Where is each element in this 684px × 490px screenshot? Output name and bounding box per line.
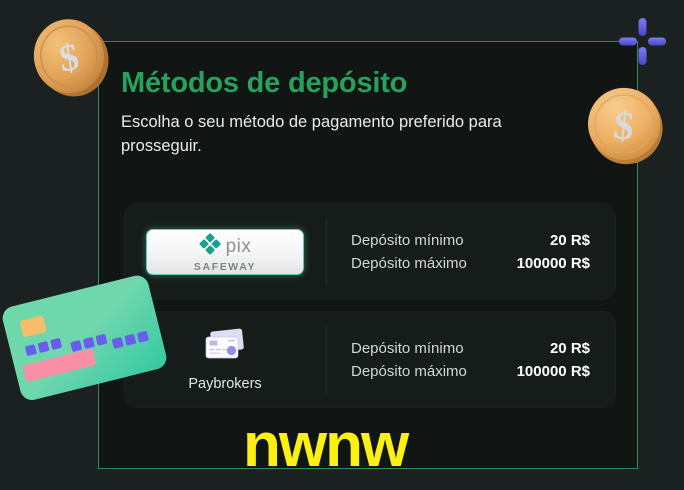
payment-method-row-paybrokers[interactable]: Paybrokers Depósito mínimo 20 R$ Depósit… [124, 311, 616, 408]
max-deposit-label: Depósito máximo [351, 363, 467, 380]
min-deposit-value: 20 R$ [550, 340, 590, 357]
min-deposit-label: Depósito mínimo [351, 232, 464, 249]
max-deposit-label: Depósito máximo [351, 255, 467, 272]
panel-header: Métodos de depósito Escolha o seu método… [121, 68, 601, 158]
payment-methods-list: pix SAFEWAY Depósito mínimo 20 R$ Depósi… [124, 203, 616, 408]
pix-wordmark: pix [226, 237, 252, 256]
pix-diamond-icon [199, 233, 221, 260]
max-deposit-value: 100000 R$ [517, 255, 590, 272]
page-subtitle: Escolha o seu método de pagamento prefer… [121, 111, 569, 158]
min-deposit-line: Depósito mínimo 20 R$ [351, 232, 590, 249]
gold-coin-icon: $ [22, 9, 118, 105]
min-deposit-value: 20 R$ [550, 232, 590, 249]
gold-coin-icon: $ [579, 78, 671, 170]
max-deposit-line: Depósito máximo 100000 R$ [351, 255, 590, 272]
green-credit-card-icon [0, 268, 178, 413]
page-title: Métodos de depósito [121, 68, 601, 98]
min-deposit-line: Depósito mínimo 20 R$ [351, 340, 590, 357]
payment-method-info-pix: Depósito mínimo 20 R$ Depósito máximo 10… [327, 232, 616, 272]
watermark-text: nwnw [243, 415, 407, 477]
purple-plus-icon [615, 14, 670, 69]
min-deposit-label: Depósito mínimo [351, 340, 464, 357]
safeway-wordmark: SAFEWAY [194, 261, 256, 273]
payment-method-row-pix[interactable]: pix SAFEWAY Depósito mínimo 20 R$ Depósi… [124, 203, 616, 300]
paybrokers-label: Paybrokers [188, 376, 261, 392]
deposit-methods-panel: Métodos de depósito Escolha o seu método… [98, 41, 638, 469]
pix-logo-row: pix [199, 233, 252, 260]
payment-method-info-paybrokers: Depósito mínimo 20 R$ Depósito máximo 10… [327, 340, 616, 380]
credit-cards-icon [202, 328, 248, 369]
max-deposit-line: Depósito máximo 100000 R$ [351, 363, 590, 380]
max-deposit-value: 100000 R$ [517, 363, 590, 380]
